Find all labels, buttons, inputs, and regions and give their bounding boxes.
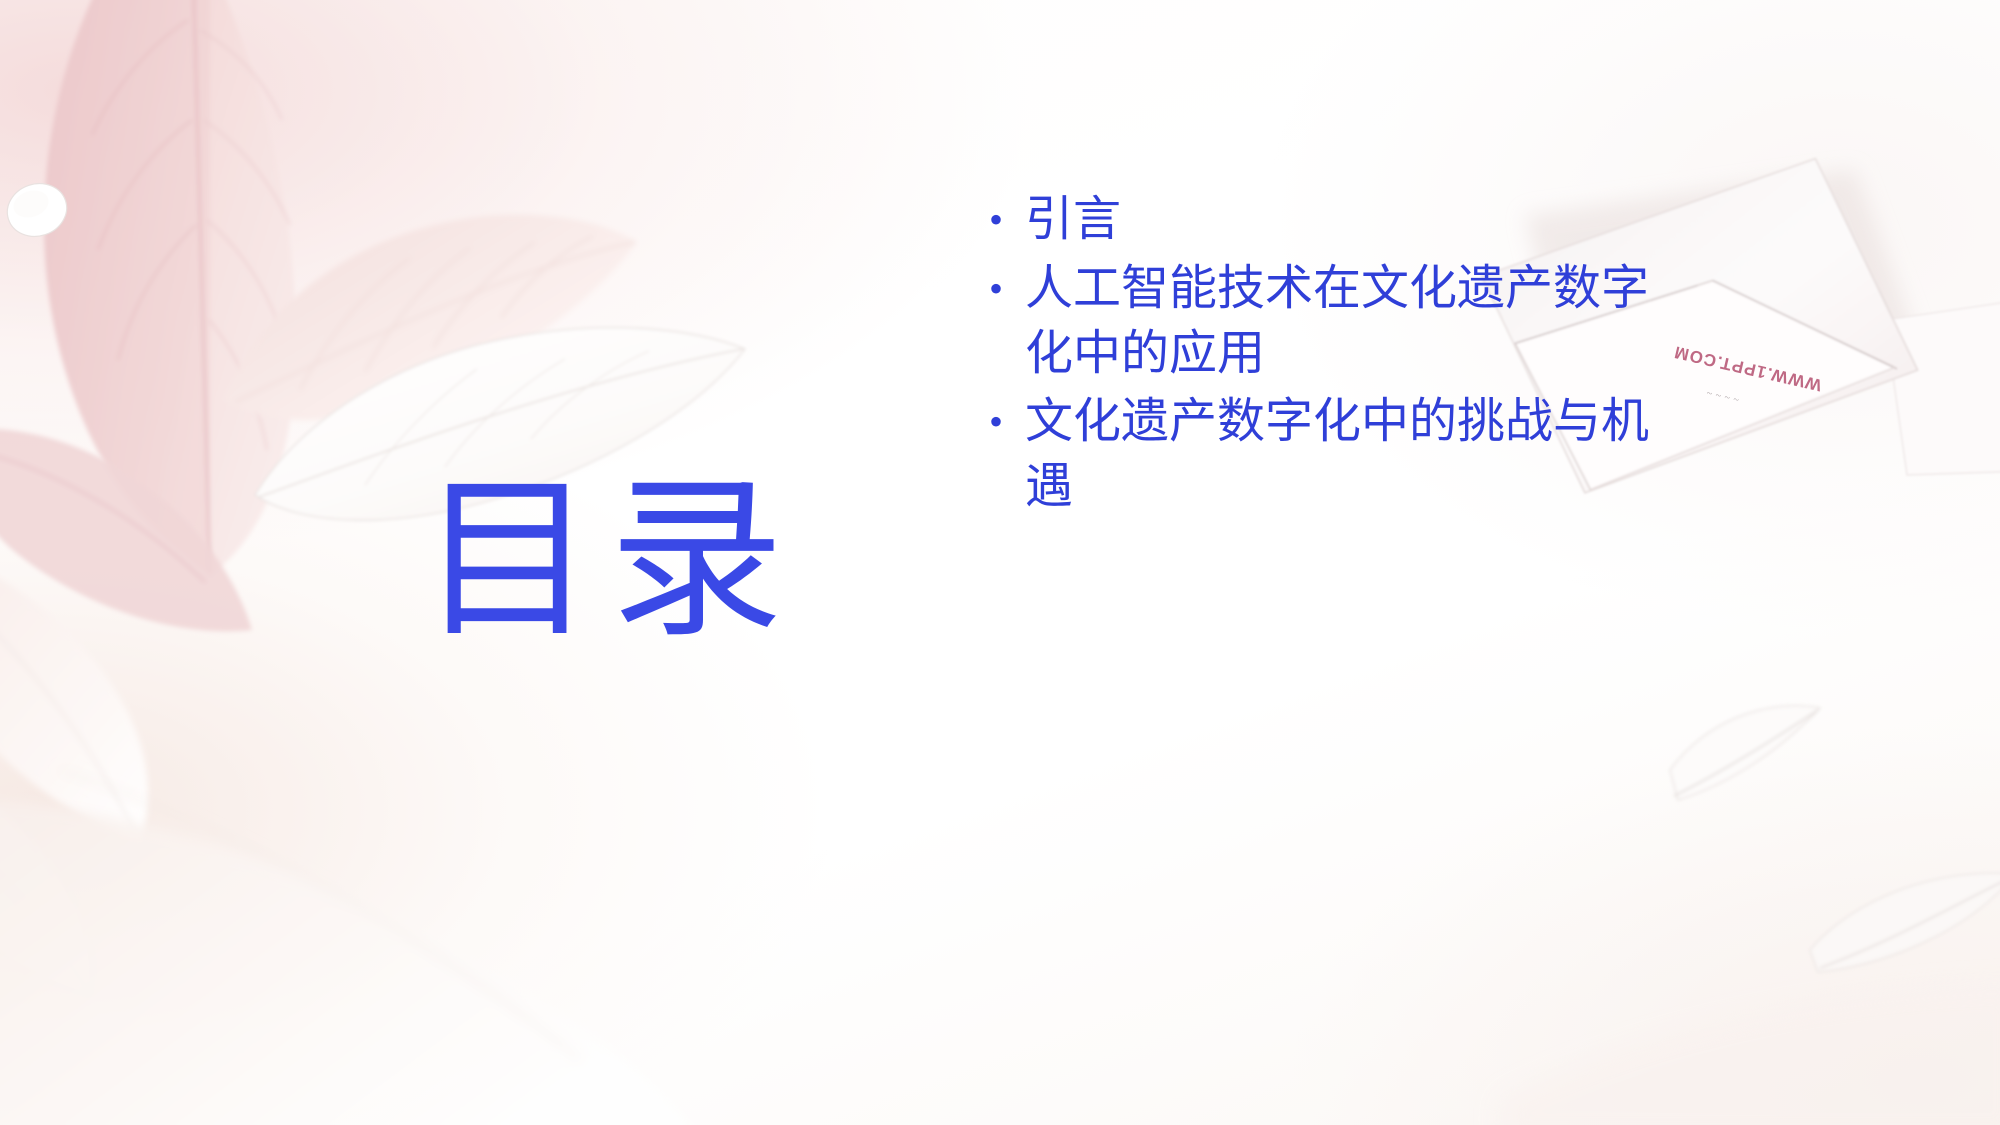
background-gradient bbox=[0, 0, 2000, 1125]
agenda-item-label: 文化遗产数字化中的挑战与机遇 bbox=[1025, 390, 1695, 520]
agenda-list: • 引言 • 人工智能技术在文化遗产数字化中的应用 • 文化遗产数字化中的挑战与… bbox=[975, 188, 1695, 524]
slide-canvas: WWW.1PPT.COM ~ ~ ~ ~ bbox=[0, 0, 2000, 1125]
agenda-item-label: 人工智能技术在文化遗产数字化中的应用 bbox=[1025, 257, 1695, 387]
list-item[interactable]: • 引言 bbox=[975, 188, 1695, 253]
list-item[interactable]: • 文化遗产数字化中的挑战与机遇 bbox=[975, 390, 1695, 520]
bullet-icon: • bbox=[975, 390, 1025, 455]
page-title: 目录 bbox=[420, 470, 780, 654]
bullet-icon: • bbox=[975, 188, 1025, 253]
agenda-item-label: 引言 bbox=[1025, 188, 1695, 253]
list-item[interactable]: • 人工智能技术在文化遗产数字化中的应用 bbox=[975, 257, 1695, 387]
bullet-icon: • bbox=[975, 257, 1025, 322]
